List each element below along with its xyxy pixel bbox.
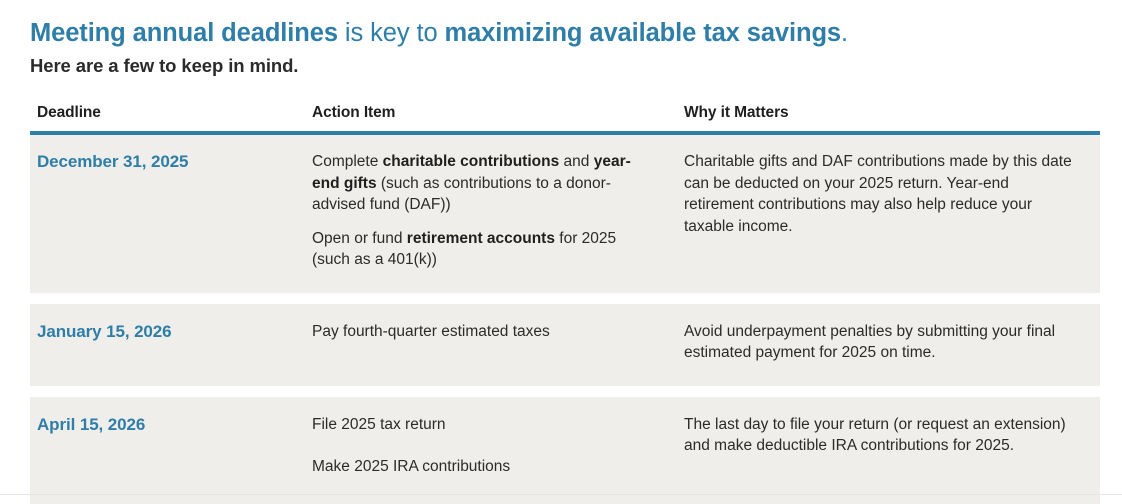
cell-action-item: Pay fourth-quarter estimated taxes — [301, 321, 672, 364]
table-row: December 31, 2025Complete charitable con… — [30, 135, 1100, 293]
action-item-paragraph: Make 2025 IRA contributions — [312, 456, 648, 478]
headline-block: Meeting annual deadlines is key to maxim… — [30, 18, 1100, 78]
table-row: April 15, 2026File 2025 tax returnMake 2… — [30, 397, 1100, 504]
page-bottom-rule — [0, 494, 1122, 495]
deadlines-table: Deadline Action Item Why it Matters Dece… — [30, 104, 1100, 504]
action-item-paragraph: Open or fund retirement accounts for 202… — [312, 228, 648, 271]
action-item-paragraph: Complete charitable contributions and ye… — [312, 151, 648, 216]
action-item-paragraph: File 2025 tax return — [312, 414, 648, 436]
cell-why-it-matters: The last day to file your return (or req… — [672, 414, 1100, 478]
page-title: Meeting annual deadlines is key to maxim… — [30, 18, 1100, 48]
table-header-row: Deadline Action Item Why it Matters — [30, 104, 1100, 131]
cell-action-item: File 2025 tax returnMake 2025 IRA contri… — [301, 414, 672, 478]
action-item-paragraph: Pay fourth-quarter estimated taxes — [312, 321, 648, 343]
table-row: January 15, 2026Pay fourth-quarter estim… — [30, 304, 1100, 386]
table-body: December 31, 2025Complete charitable con… — [30, 135, 1100, 504]
cell-why-it-matters: Avoid underpayment penalties by submitti… — [672, 321, 1100, 364]
cell-why-it-matters: Charitable gifts and DAF contributions m… — [672, 151, 1100, 271]
cell-deadline: January 15, 2026 — [30, 321, 301, 364]
cell-deadline: December 31, 2025 — [30, 151, 301, 271]
column-header-action-item: Action Item — [301, 104, 672, 122]
cell-deadline: April 15, 2026 — [30, 414, 301, 478]
column-header-why-it-matters: Why it Matters — [672, 104, 1100, 122]
column-header-deadline: Deadline — [30, 104, 301, 122]
page-subtitle: Here are a few to keep in mind. — [30, 54, 1100, 78]
cell-action-item: Complete charitable contributions and ye… — [301, 151, 672, 271]
